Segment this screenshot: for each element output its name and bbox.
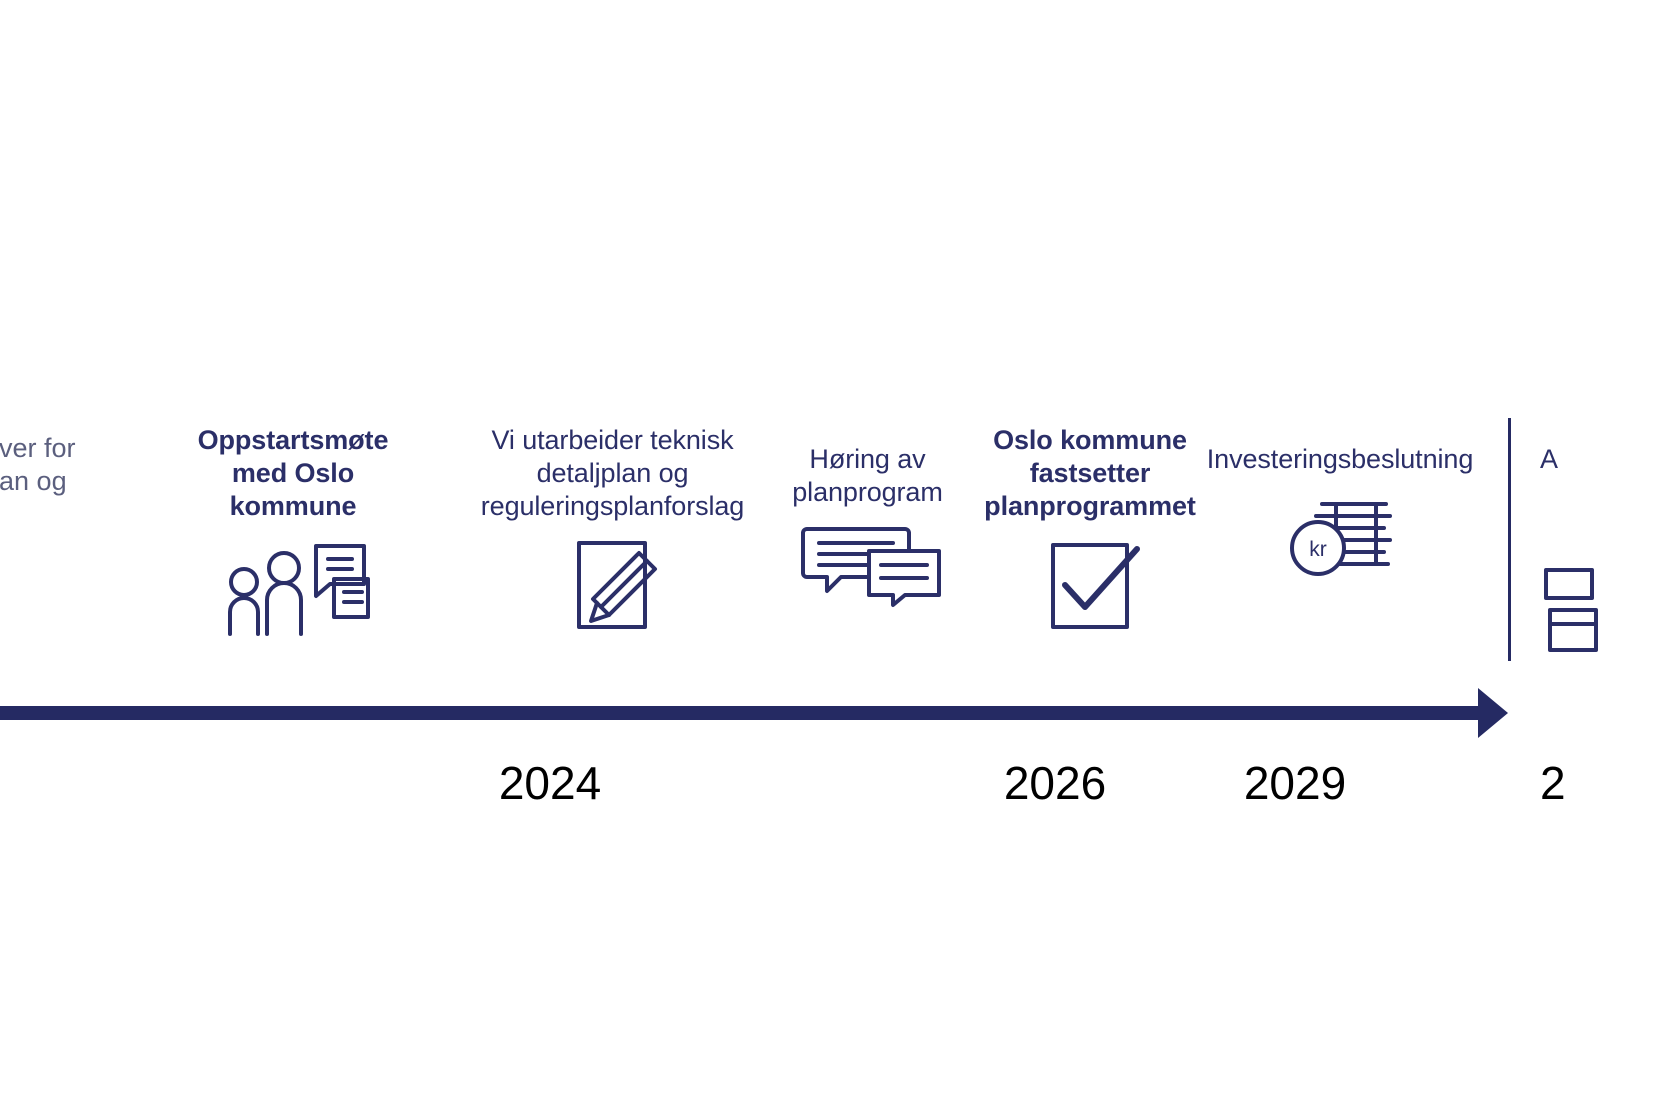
milestone-label: Oppstartsmøte med Oslo kommune (178, 424, 408, 523)
milestone-oppstartsmote[interactable]: Oppstartsmøte med Oslo kommune (178, 424, 408, 635)
milestone-label: Oslo kommune fastsetter planprogrammet (975, 424, 1205, 523)
timeline-diagram: giver for plan og n. Oppstartsmøte med O… (0, 0, 1680, 1120)
year-label-2029: 2029 (1205, 760, 1385, 806)
coin-stack-kr-icon: kr (1195, 488, 1485, 588)
right-cropped-label: A (1540, 443, 1558, 476)
document-pencil-icon (470, 535, 755, 635)
year-label-2024: 2024 (460, 760, 640, 806)
year-label-cropped: 2 (1540, 760, 1660, 806)
milestone-investeringsbeslutning[interactable]: Investeringsbeslutning kr (1195, 443, 1485, 588)
milestone-horing-planprogram[interactable]: Høring av planprogram (780, 443, 955, 606)
left-cropped-paragraph: giver for plan og n. (0, 432, 108, 531)
right-cropped-icon (1540, 552, 1640, 657)
milestone-fastsetter-planprogrammet[interactable]: Oslo kommune fastsetter planprogrammet (975, 424, 1205, 635)
coin-currency-label: kr (1309, 538, 1327, 561)
milestone-teknisk-detaljplan[interactable]: Vi utarbeider teknisk detaljplan og regu… (470, 424, 755, 635)
phase-divider (1508, 418, 1511, 661)
milestone-label: Høring av planprogram (780, 443, 955, 509)
milestone-label: Investeringsbeslutning (1195, 443, 1485, 476)
timeline-arrow-head (1478, 688, 1508, 738)
document-checkmark-icon (975, 535, 1205, 635)
speech-bubbles-icon (780, 521, 955, 606)
people-documents-icon (178, 535, 408, 635)
milestone-label: Vi utarbeider teknisk detaljplan og regu… (470, 424, 755, 523)
timeline-axis-line (0, 706, 1486, 720)
year-label-2026: 2026 (965, 760, 1145, 806)
